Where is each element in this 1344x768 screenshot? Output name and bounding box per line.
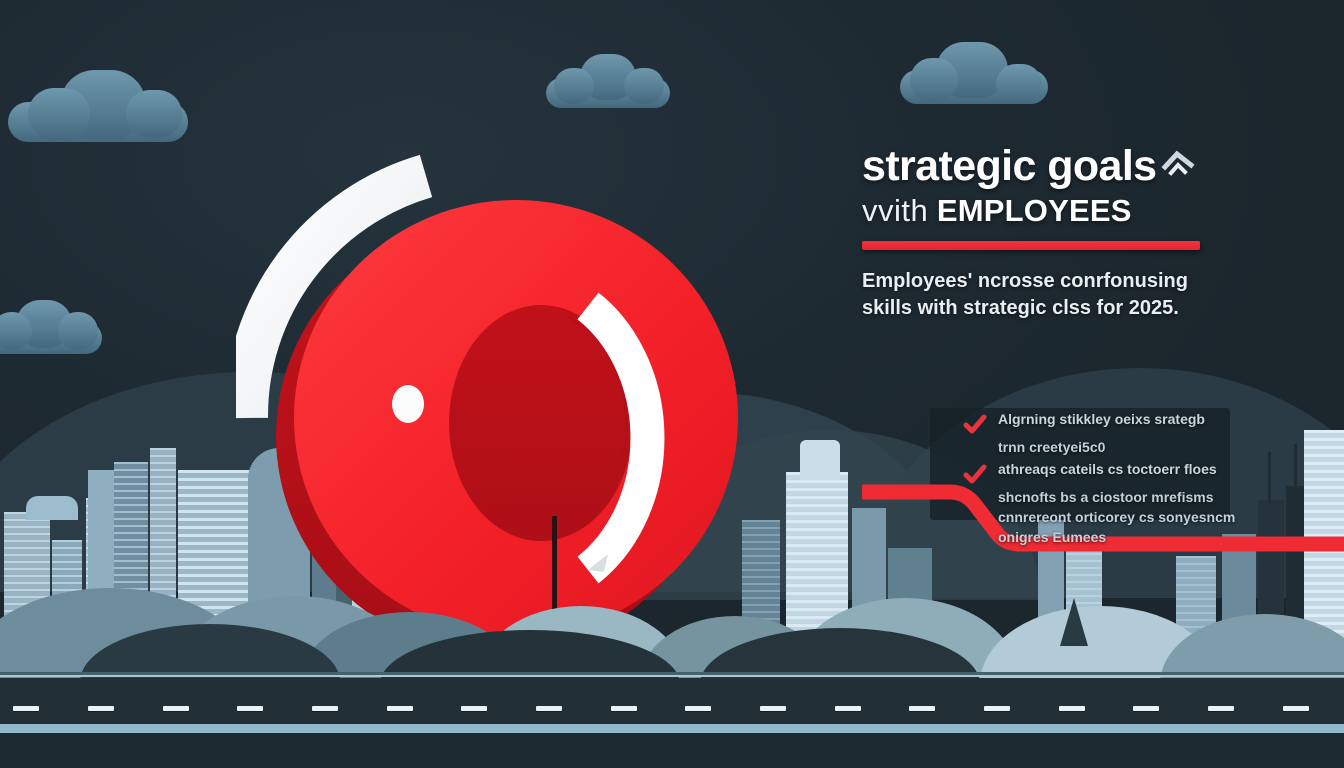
lane-dash [13, 706, 39, 711]
bullet-list: Algrning stikkley oeixs srategb trnn cre… [962, 410, 1262, 548]
chevron-up-icon [1161, 140, 1195, 185]
lane-dash [1208, 706, 1234, 711]
list-item-sub: trnn creetyei5c0 [998, 438, 1262, 458]
lane-dash [461, 706, 487, 711]
road-line-bottom [0, 724, 1344, 733]
lede-paragraph: Employees' ncrosse conrfonusing skills w… [862, 268, 1222, 321]
title-divider [862, 241, 1200, 250]
page-subtitle-thin: vvith [862, 193, 928, 228]
check-icon [962, 412, 988, 438]
pine-tree [1060, 598, 1088, 646]
lane-dash [312, 706, 338, 711]
lane-dash [1133, 706, 1159, 711]
red-donut-chart [236, 118, 776, 648]
page-subtitle-bold: EMPLOYEES [937, 193, 1132, 228]
list-item: Algrning stikkley oeixs srategb [962, 410, 1262, 438]
lane-dash [536, 706, 562, 711]
lane-dash [88, 706, 114, 711]
lane-dash [984, 706, 1010, 711]
list-item-label: Algrning stikkley oeixs srategb [998, 410, 1205, 438]
white-dot [392, 385, 424, 423]
list-item-sub: shcnofts bs a ciostoor mrefisms cnnrereo… [998, 488, 1262, 548]
page-title: strategic goals [862, 140, 1242, 189]
lane-dash [685, 706, 711, 711]
building-l-dome [26, 496, 78, 520]
road [0, 672, 1344, 768]
lane-dash [611, 706, 637, 711]
lane-dash [237, 706, 263, 711]
check-icon [962, 462, 988, 488]
list-item: athreaqs cateils cs toctoerr floes [962, 460, 1262, 488]
text-panel: strategic goals vvith EMPLOYEES Employee… [862, 140, 1242, 321]
lane-dash [909, 706, 935, 711]
lane-dash [1059, 706, 1085, 711]
lane-dash [387, 706, 413, 711]
lane-dash [835, 706, 861, 711]
road-line-top [0, 675, 1344, 677]
page-subtitle: vvith EMPLOYEES [862, 195, 1242, 228]
infographic-banner: strategic goals vvith EMPLOYEES Employee… [0, 0, 1344, 768]
list-item-label: athreaqs cateils cs toctoerr floes [998, 460, 1217, 488]
road-apron [0, 733, 1344, 768]
lane-dash [1283, 706, 1309, 711]
lane-dash [760, 706, 786, 711]
lane-dash [163, 706, 189, 711]
page-title-text: strategic goals [862, 142, 1157, 190]
